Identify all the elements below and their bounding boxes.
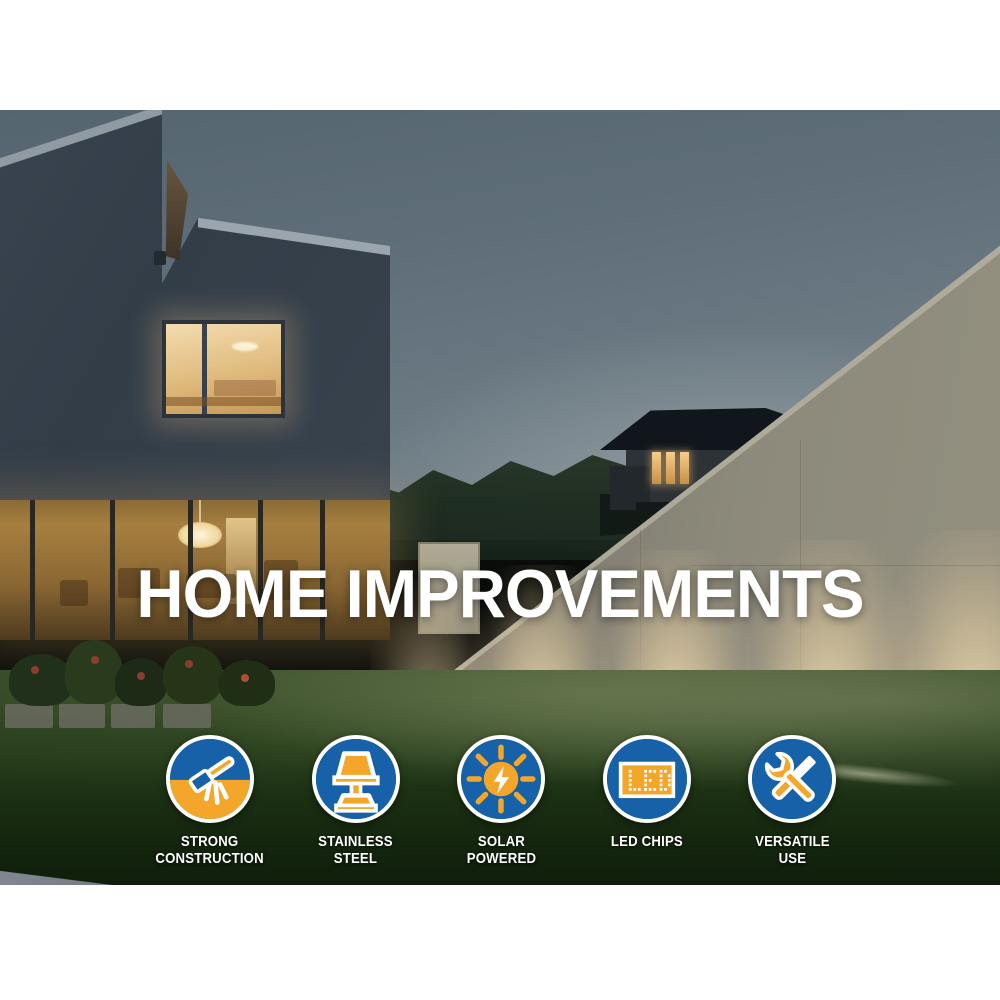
- flower: [137, 672, 145, 680]
- scene-photo: HOME IMPROVEMENTS: [0, 110, 1000, 885]
- flower: [31, 666, 39, 674]
- feature-label: STAINLESS STEEL: [318, 833, 393, 868]
- hammer-icon: [166, 735, 254, 823]
- feature-list: STRONG CONSTRUCTION STAINLESS STEEL: [145, 735, 857, 868]
- feature-item-versatile-use: VERSATILE USE: [727, 735, 857, 868]
- interior-ceiling-light: [232, 342, 258, 351]
- solar-sun-icon: [457, 735, 545, 823]
- banner-image: HOME IMPROVEMENTS: [0, 0, 1000, 1000]
- feature-item-stainless-steel: STAINLESS STEEL: [291, 735, 421, 868]
- planter-box: [59, 704, 105, 728]
- garden-planters: [0, 630, 305, 740]
- shrub: [219, 660, 275, 706]
- led-chip-icon: [603, 735, 691, 823]
- exterior-wall-lamp: [154, 251, 166, 265]
- feature-label: VERSATILE USE: [755, 833, 830, 868]
- feature-label: LED CHIPS: [611, 833, 683, 850]
- lamp-icon: [312, 735, 400, 823]
- planter-box: [163, 704, 211, 728]
- shrub: [115, 658, 167, 706]
- shrub: [9, 654, 73, 706]
- hillside-window: [666, 452, 675, 484]
- hillside-window: [652, 452, 661, 484]
- feature-label: SOLAR POWERED: [466, 833, 535, 868]
- interior-furniture: [214, 380, 276, 396]
- feature-item-strong-construction: STRONG CONSTRUCTION: [145, 735, 275, 868]
- lit-window: [162, 320, 285, 418]
- feature-item-solar-powered: SOLAR POWERED: [436, 735, 566, 868]
- tools-icon: [748, 735, 836, 823]
- hillside-window: [680, 452, 689, 484]
- planter-box: [111, 704, 155, 728]
- flower: [241, 674, 249, 682]
- shrub: [65, 640, 123, 704]
- page-title: HOME IMPROVEMENTS: [20, 560, 980, 628]
- pendant-light: [178, 522, 222, 548]
- flower: [91, 656, 99, 664]
- flower: [185, 660, 193, 668]
- feature-item-led-chips: LED CHIPS: [582, 735, 712, 850]
- wall-seam: [800, 440, 801, 670]
- window-sill: [166, 397, 281, 406]
- shrub: [163, 646, 223, 704]
- planter-box: [5, 704, 53, 728]
- feature-label: STRONG CONSTRUCTION: [156, 833, 264, 868]
